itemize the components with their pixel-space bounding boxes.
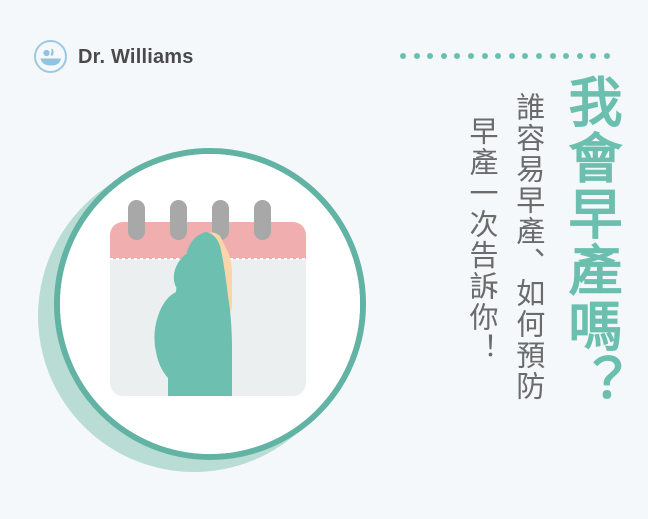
poster-canvas: Dr. Williams xyxy=(0,0,648,519)
dot-icon xyxy=(577,53,583,59)
dot-icon xyxy=(441,53,447,59)
headline-sub-1: 誰容易早產、如何預防 xyxy=(512,92,543,402)
pregnancy-calendar-illustration xyxy=(38,148,368,478)
dot-icon xyxy=(495,53,501,59)
headline-block: 我會早產嗎？ 誰容易早產、如何預防 早產一次告訴你！ xyxy=(465,74,618,494)
headline-sub-2: 早產一次告訴你！ xyxy=(465,116,496,364)
dot-icon xyxy=(590,53,596,59)
dot-icon xyxy=(400,53,406,59)
brand-name: Dr. Williams xyxy=(78,47,194,67)
dot-icon xyxy=(563,53,569,59)
circle-inner-fill xyxy=(60,154,360,454)
brand-logo[interactable]: Dr. Williams xyxy=(34,40,194,73)
pregnant-woman-icon xyxy=(110,200,306,396)
dot-icon xyxy=(482,53,488,59)
dot-icon xyxy=(427,53,433,59)
decorative-dot-row xyxy=(400,53,610,60)
dot-icon xyxy=(454,53,460,59)
dot-icon xyxy=(509,53,515,59)
dot-icon xyxy=(604,53,610,59)
dot-icon xyxy=(468,53,474,59)
dot-icon xyxy=(536,53,542,59)
dot-icon xyxy=(414,53,420,59)
dot-icon xyxy=(550,53,556,59)
dot-icon xyxy=(522,53,528,59)
baby-face-icon xyxy=(34,40,67,73)
headline-main: 我會早產嗎？ xyxy=(561,74,618,410)
